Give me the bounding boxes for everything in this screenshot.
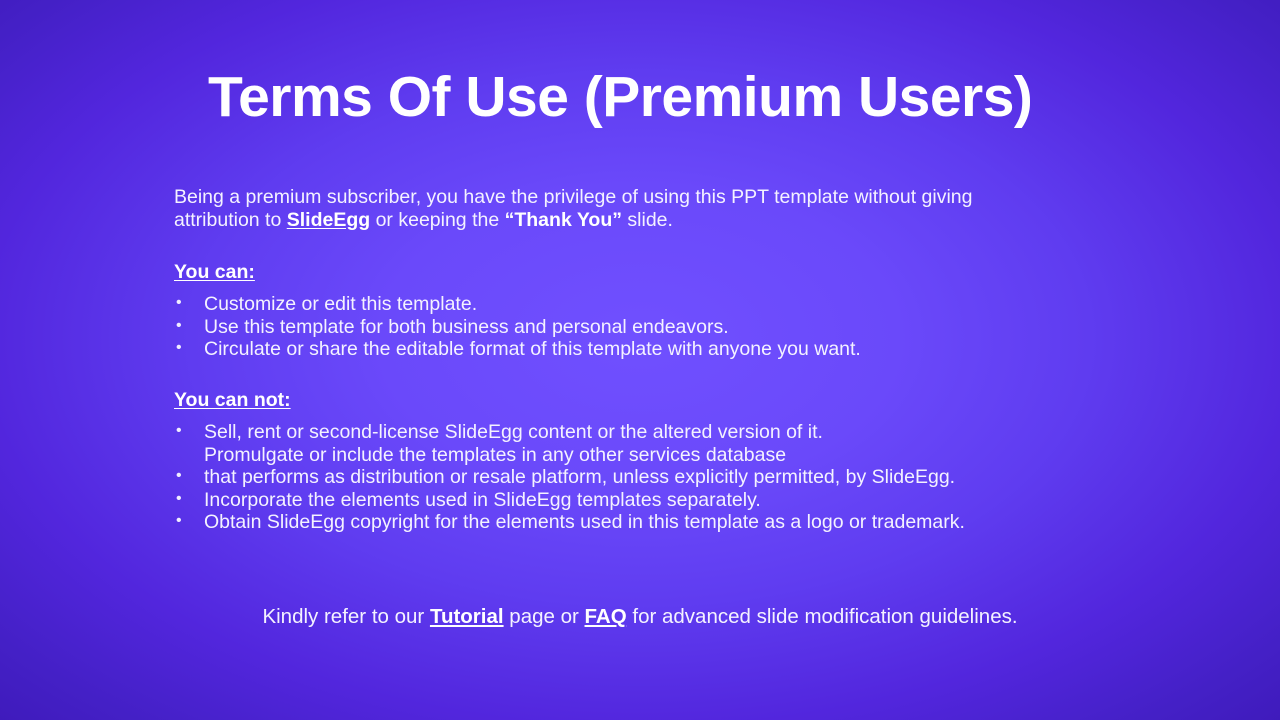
tutorial-link[interactable]: Tutorial	[430, 605, 504, 628]
list-item: Obtain SlideEgg copyright for the elemen…	[174, 511, 1094, 534]
you-can-list: Customize or edit this template. Use thi…	[174, 293, 1094, 361]
faq-link[interactable]: FAQ	[585, 605, 627, 628]
section-you-can-not: You can not: Sell, rent or second-licens…	[174, 389, 1094, 534]
list-item-text: Sell, rent or second-license SlideEgg co…	[204, 421, 823, 443]
list-item: Use this template for both business and …	[174, 316, 1094, 339]
section-heading-you-can: You can:	[174, 261, 255, 284]
list-item-text: Circulate or share the editable format o…	[204, 338, 861, 360]
intro-text-part-2: or keeping the	[370, 209, 504, 231]
page-title: Terms Of Use (Premium Users)	[208, 64, 1108, 131]
thank-you-emphasis: “Thank You”	[505, 209, 622, 231]
list-item-text: Use this template for both business and …	[204, 316, 729, 338]
list-item: that performs as distribution or resale …	[174, 466, 1094, 489]
list-item: Customize or edit this template.	[174, 293, 1094, 316]
list-item-continuation: Promulgate or include the templates in a…	[204, 444, 1094, 467]
list-item-text: Incorporate the elements used in SlideEg…	[204, 489, 761, 511]
intro-paragraph: Being a premium subscriber, you have the…	[174, 186, 974, 231]
list-item: Sell, rent or second-license SlideEgg co…	[174, 421, 1094, 466]
slideegg-brand-link[interactable]: SlideEgg	[287, 209, 370, 231]
list-item: Incorporate the elements used in SlideEg…	[174, 489, 1094, 512]
footer-text-part-1: Kindly refer to our	[262, 605, 430, 628]
list-item-text: that performs as distribution or resale …	[204, 466, 955, 488]
footer-text-part-2: page or	[504, 605, 585, 628]
section-heading-you-can-not: You can not:	[174, 389, 291, 412]
intro-text-part-3: slide.	[622, 209, 673, 231]
slide-canvas: Terms Of Use (Premium Users) Being a pre…	[0, 0, 1280, 720]
list-item-text: Customize or edit this template.	[204, 293, 477, 315]
section-you-can: You can: Customize or edit this template…	[174, 261, 1094, 361]
footer-text-part-3: for advanced slide modification guidelin…	[627, 605, 1018, 628]
footer-note: Kindly refer to our Tutorial page or FAQ…	[0, 604, 1280, 630]
list-item: Circulate or share the editable format o…	[174, 338, 1094, 361]
you-can-not-list: Sell, rent or second-license SlideEgg co…	[174, 421, 1094, 534]
list-item-text: Obtain SlideEgg copyright for the elemen…	[204, 511, 965, 533]
